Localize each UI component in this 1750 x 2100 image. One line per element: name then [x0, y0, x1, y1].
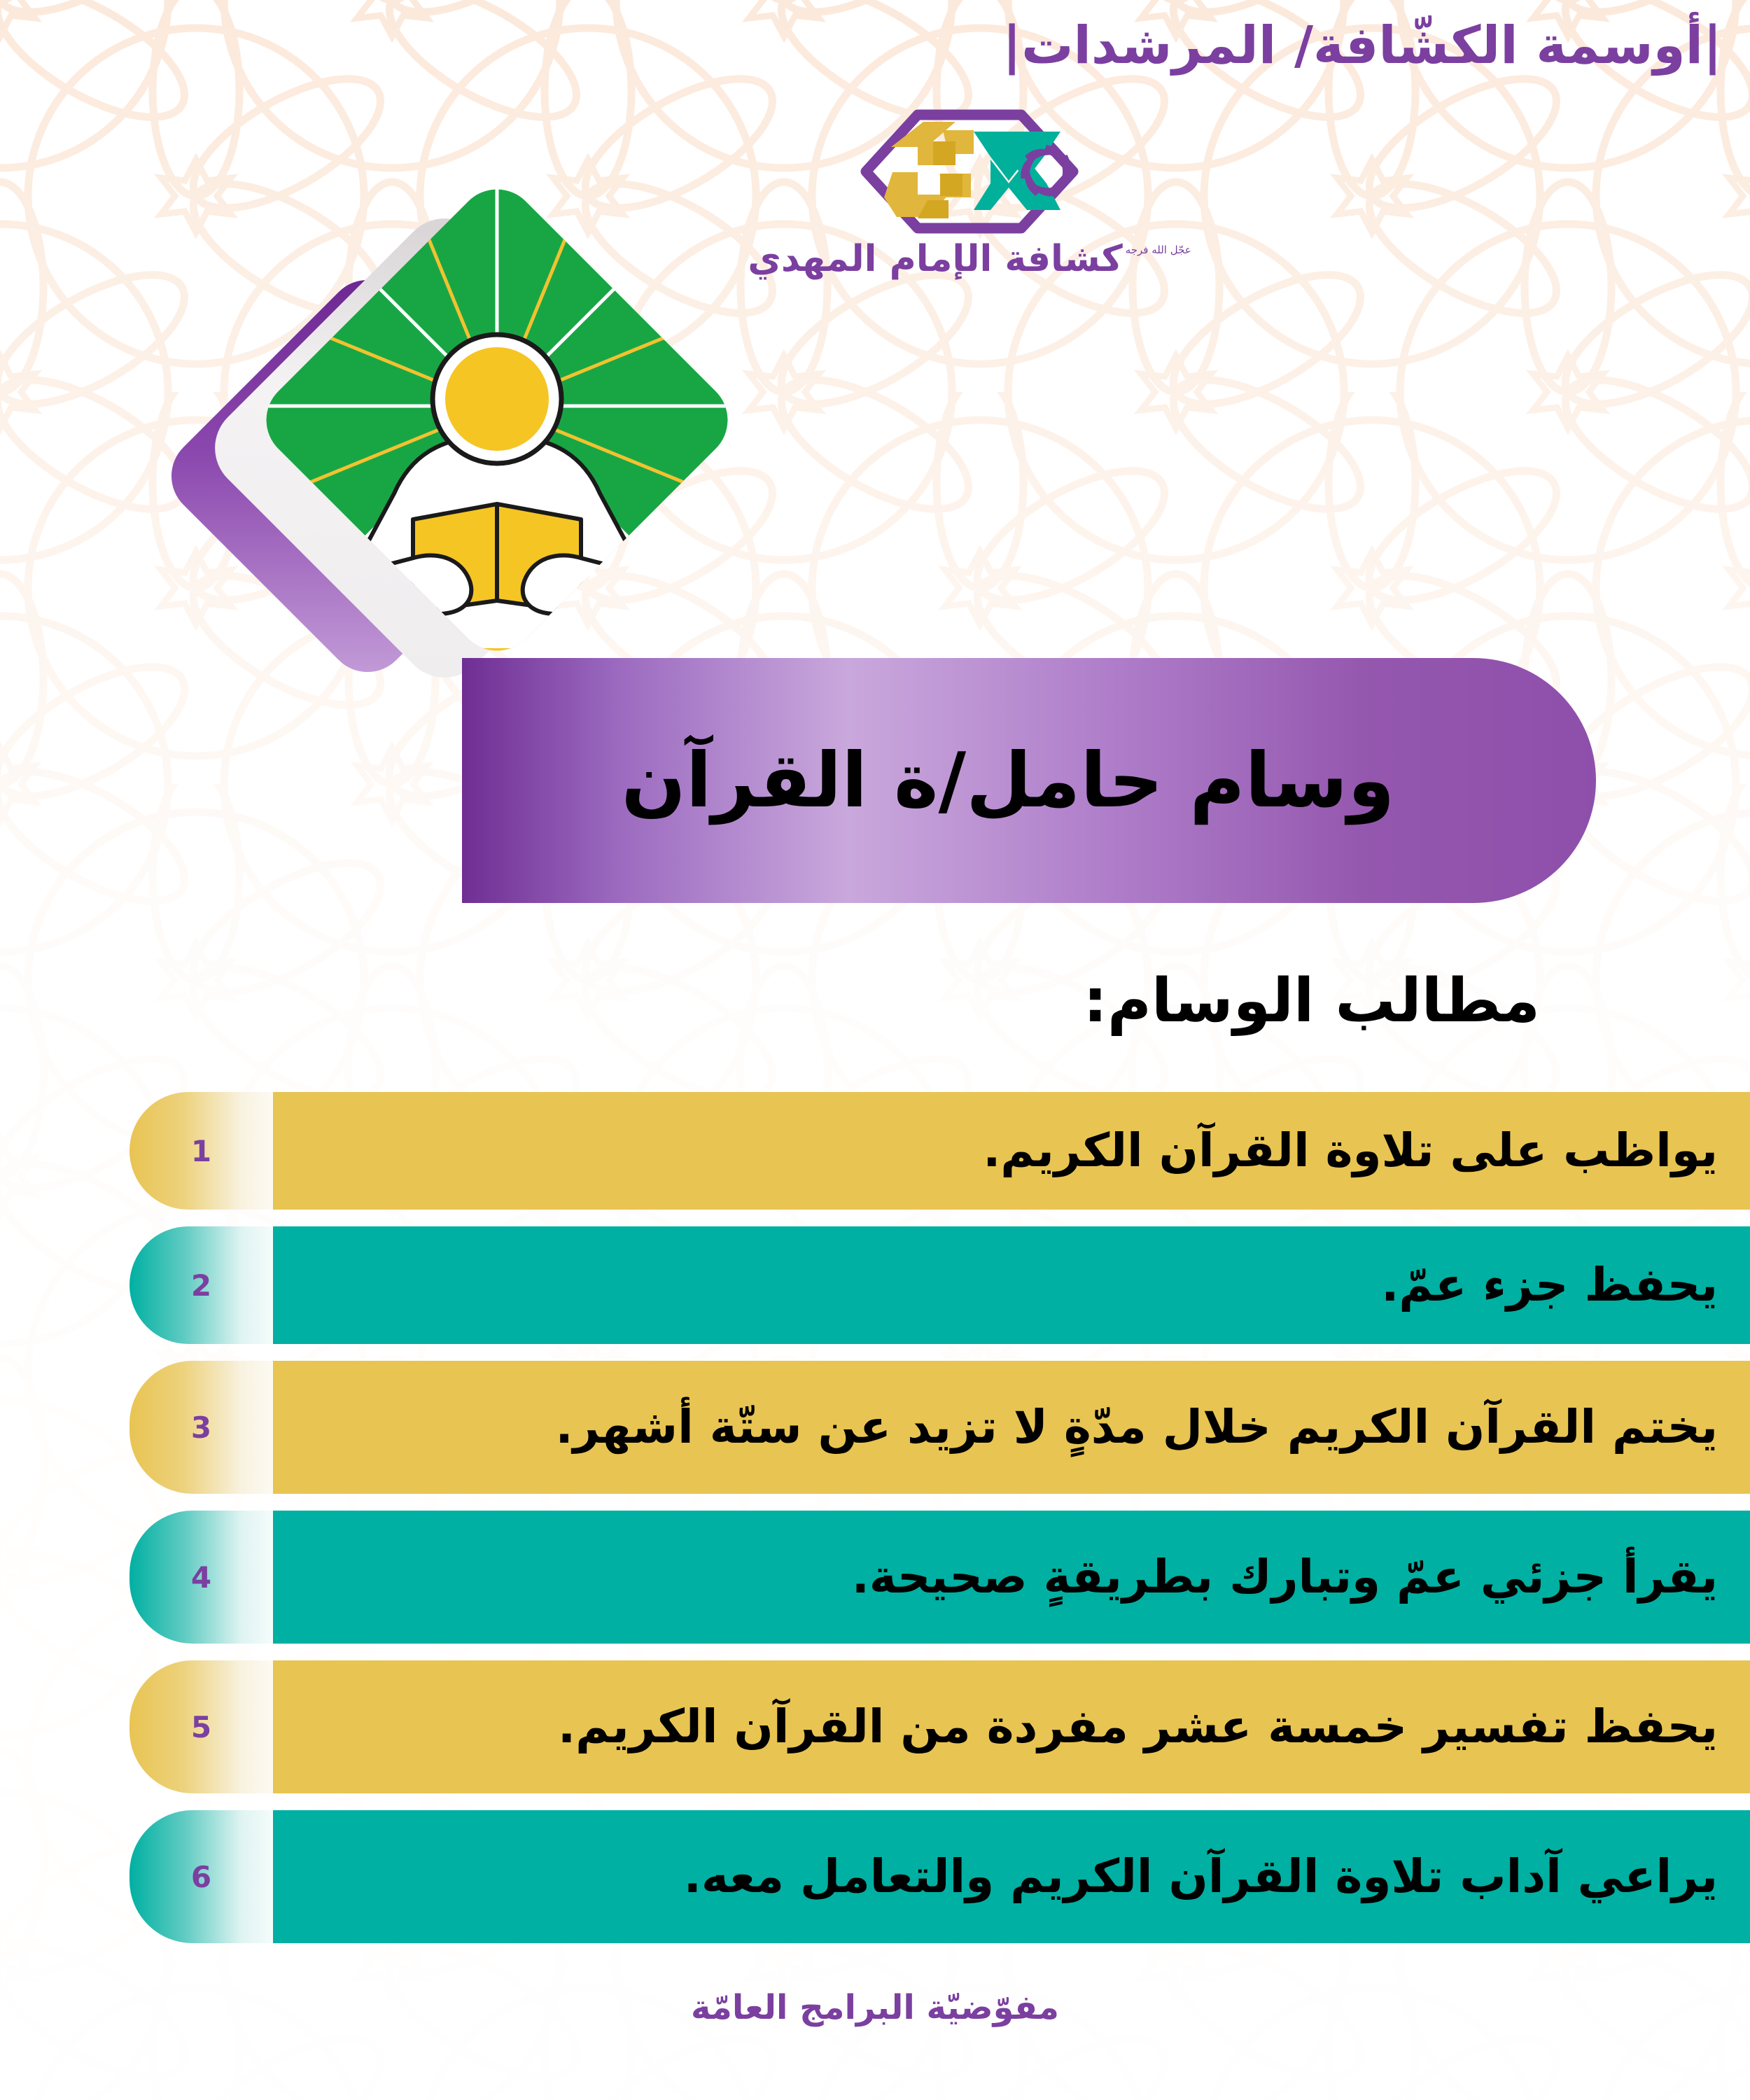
- requirement-row[interactable]: 2 يحفظ جزء عمّ.: [129, 1226, 1750, 1344]
- page-header-title: |أوسمة الكشّافة/ المرشدات|: [1002, 15, 1722, 76]
- requirement-text: يختم القرآن الكريم خلال مدّةٍ لا تزيد عن…: [555, 1401, 1718, 1454]
- requirement-text: يراعي آداب تلاوة القرآن الكريم والتعامل …: [684, 1850, 1718, 1903]
- requirement-row[interactable]: 1 يواظب على تلاوة القرآن الكريم.: [129, 1092, 1750, 1210]
- brand-logo-block: عجّل الله فرجه كشافة الإمام المهدي: [819, 105, 1120, 277]
- requirement-number: 6: [129, 1810, 273, 1943]
- requirement-row[interactable]: 6 يراعي آداب تلاوة القرآن الكريم والتعام…: [129, 1810, 1750, 1943]
- requirement-body: يحفظ تفسير خمسة عشر مفردة من القرآن الكر…: [273, 1660, 1750, 1793]
- requirement-body: يحفظ جزء عمّ.: [273, 1226, 1750, 1344]
- requirement-number: 2: [129, 1226, 273, 1344]
- requirement-number: 5: [129, 1660, 273, 1793]
- scout-hexagon-logo-icon: [850, 105, 1088, 238]
- badge-title-banner: وسام حامل/ة القرآن: [462, 658, 1596, 903]
- brand-honorific: عجّل الله فرجه: [1126, 245, 1191, 255]
- requirement-row[interactable]: 3 يختم القرآن الكريم خلال مدّةٍ لا تزيد …: [129, 1361, 1750, 1494]
- requirement-number: 1: [129, 1092, 273, 1210]
- requirement-row[interactable]: 4 يقرأ جزئي عمّ وتبارك بطريقةٍ صحيحة.: [129, 1511, 1750, 1644]
- requirement-body: يراعي آداب تلاوة القرآن الكريم والتعامل …: [273, 1810, 1750, 1943]
- requirement-text: يحفظ تفسير خمسة عشر مفردة من القرآن الكر…: [558, 1700, 1718, 1753]
- brand-name: كشافة الإمام المهدي: [748, 241, 1122, 277]
- requirement-body: يقرأ جزئي عمّ وتبارك بطريقةٍ صحيحة.: [273, 1511, 1750, 1644]
- requirements-heading: مطالب الوسام:: [1083, 966, 1540, 1036]
- requirement-text: يقرأ جزئي عمّ وتبارك بطريقةٍ صحيحة.: [852, 1550, 1718, 1604]
- badge-title-text: وسام حامل/ة القرآن: [622, 737, 1395, 825]
- footer-organization: مفوّضيّة البرامج العامّة: [0, 1988, 1750, 2027]
- requirement-number: 3: [129, 1361, 273, 1494]
- requirement-body: يختم القرآن الكريم خلال مدّةٍ لا تزيد عن…: [273, 1361, 1750, 1494]
- requirement-row[interactable]: 5 يحفظ تفسير خمسة عشر مفردة من القرآن ال…: [129, 1660, 1750, 1793]
- requirement-number: 4: [129, 1511, 273, 1644]
- requirements-list: 1 يواظب على تلاوة القرآن الكريم. 2 يحفظ …: [129, 1092, 1750, 1960]
- requirement-text: يواظب على تلاوة القرآن الكريم.: [983, 1124, 1718, 1177]
- requirement-text: يحفظ جزء عمّ.: [1381, 1259, 1718, 1312]
- requirement-body: يواظب على تلاوة القرآن الكريم.: [273, 1092, 1750, 1210]
